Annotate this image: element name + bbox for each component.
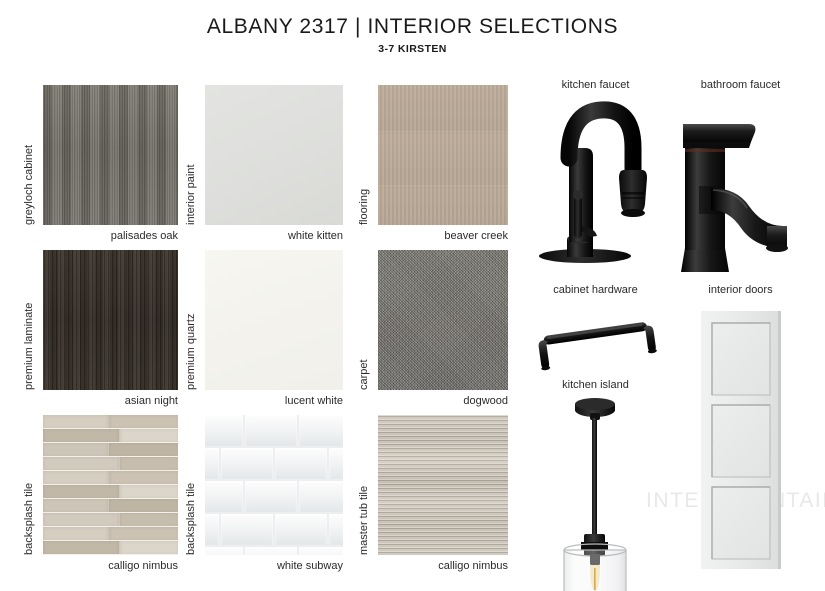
swatch-image-laminate bbox=[43, 250, 178, 390]
swatch-image-paint bbox=[205, 85, 343, 225]
texture-solid-quartz bbox=[205, 250, 343, 390]
page-subtitle: 3-7 KIRSTEN bbox=[0, 43, 825, 56]
product-label: kitchen faucet bbox=[523, 78, 668, 92]
page-title: ALBANY 2317 | INTERIOR SELECTIONS bbox=[0, 14, 825, 40]
pendant-light-icon bbox=[523, 398, 668, 591]
swatch-image-tubtile bbox=[378, 415, 508, 555]
swatch-category-label: premium laminate bbox=[21, 250, 39, 390]
swatch-image-carpet bbox=[378, 250, 508, 390]
texture-subway-tile bbox=[205, 415, 343, 555]
swatch-premium-quartz: premium quartz lucent white bbox=[183, 250, 343, 410]
bathroom-faucet-icon bbox=[663, 102, 818, 280]
cabinet-bar-pull-icon bbox=[523, 303, 668, 373]
swatch-category-label: master tub tile bbox=[356, 415, 374, 555]
swatch-category-label: greyloch cabinet bbox=[21, 85, 39, 225]
texture-dark-wood-grain bbox=[43, 250, 178, 390]
swatch-white-subway: backsplash tile white subway bbox=[183, 415, 343, 575]
swatch-image-quartz bbox=[205, 250, 343, 390]
swatch-category-label: backsplash tile bbox=[21, 415, 39, 555]
swatch-category-label: carpet bbox=[356, 250, 374, 390]
texture-solid-paint bbox=[205, 85, 343, 225]
interior-selections-board: INTERMOUNTAIN MLS ALBANY 2317 | INTERIOR… bbox=[0, 0, 825, 591]
swatch-image-subway bbox=[205, 415, 343, 555]
swatch-name-label: lucent white bbox=[205, 394, 343, 408]
swatch-name-label: white kitten bbox=[205, 229, 343, 243]
swatch-name-label: asian night bbox=[43, 394, 178, 408]
swatch-interior-paint: interior paint white kitten bbox=[183, 85, 343, 245]
swatch-category-label: premium quartz bbox=[183, 250, 201, 390]
swatch-category-label: flooring bbox=[356, 85, 374, 225]
swatch-category-label: interior paint bbox=[183, 85, 201, 225]
swatch-name-label: dogwood bbox=[378, 394, 508, 408]
texture-carpet-speckle bbox=[378, 250, 508, 390]
swatch-backsplash-mosaic: backsplash tile calligo nimbus bbox=[21, 415, 178, 575]
swatch-carpet: carpet dogwood bbox=[356, 250, 508, 410]
swatch-image-flooring bbox=[378, 85, 508, 225]
kitchen-faucet-icon bbox=[523, 96, 668, 271]
product-label: kitchen island bbox=[523, 378, 668, 392]
product-kitchen-island: kitchen island bbox=[523, 378, 668, 591]
swatch-category-label: backsplash tile bbox=[183, 415, 201, 555]
swatch-name-label: calligo nimbus bbox=[378, 559, 508, 573]
swatch-image-mosaic bbox=[43, 415, 178, 555]
swatch-master-tub-tile: master tub tile calligo nimbus bbox=[356, 415, 508, 575]
swatch-greyloch-cabinet: greyloch cabinet palisades oak bbox=[21, 85, 178, 245]
product-label: cabinet hardware bbox=[523, 283, 668, 297]
texture-plank-mosaic bbox=[43, 415, 178, 555]
three-panel-door-icon bbox=[663, 305, 818, 575]
swatch-image-greyloch bbox=[43, 85, 178, 225]
swatch-name-label: beaver creek bbox=[378, 229, 508, 243]
product-label: bathroom faucet bbox=[663, 78, 818, 92]
product-cabinet-hardware: cabinet hardware bbox=[523, 283, 668, 383]
texture-wood-plank bbox=[378, 85, 508, 225]
swatch-flooring: flooring beaver creek bbox=[356, 85, 508, 245]
texture-striated-stone bbox=[378, 415, 508, 555]
board-header: ALBANY 2317 | INTERIOR SELECTIONS 3-7 KI… bbox=[0, 0, 825, 56]
swatch-name-label: palisades oak bbox=[43, 229, 178, 243]
swatch-premium-laminate: premium laminate asian night bbox=[21, 250, 178, 410]
texture-wood-grain bbox=[43, 85, 178, 225]
swatch-name-label: calligo nimbus bbox=[43, 559, 178, 573]
product-label: interior doors bbox=[663, 283, 818, 297]
product-interior-doors: interior doors bbox=[663, 283, 818, 583]
swatch-name-label: white subway bbox=[205, 559, 343, 573]
product-kitchen-faucet: kitchen faucet bbox=[523, 78, 668, 278]
product-bathroom-faucet: bathroom faucet bbox=[663, 78, 818, 283]
